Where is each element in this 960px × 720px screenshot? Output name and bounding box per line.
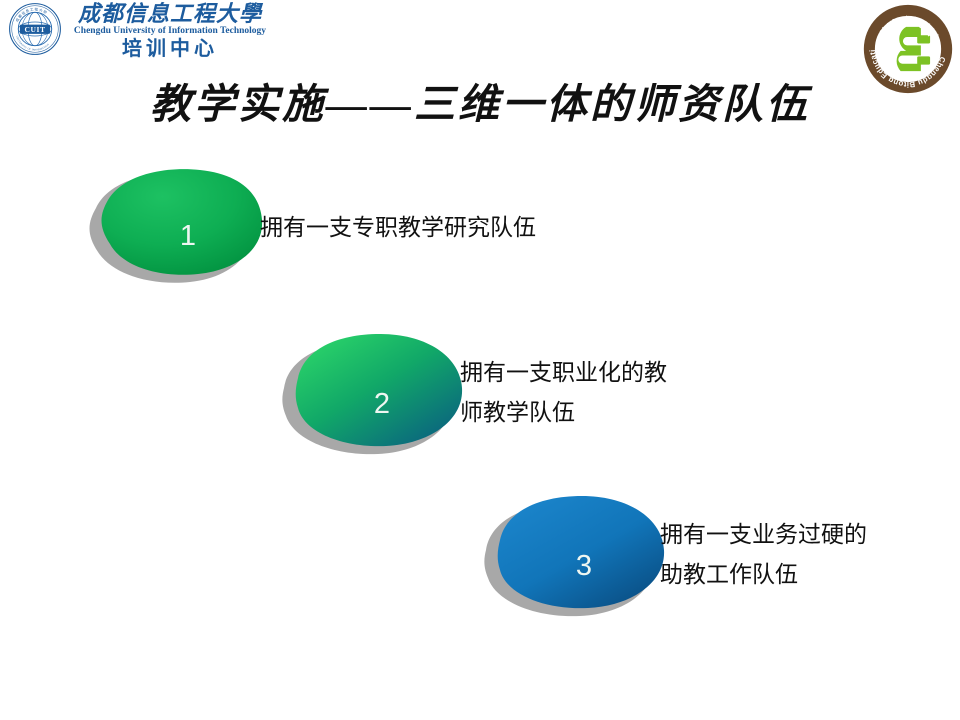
blob-shape-1[interactable] (78, 166, 278, 286)
svg-text:CUIT: CUIT (24, 25, 45, 34)
item-text: 拥有一支专职教学研究队伍 (260, 207, 536, 247)
item-text: 拥有一支职业化的教 师教学队伍 (460, 352, 667, 432)
slide-canvas: CUIT 成都信息工程大學 UNIVERSITY OF INFORMATION … (0, 0, 960, 720)
university-subtitle-cn: 培训中心 (64, 38, 276, 60)
item-text: 拥有一支业务过硬的 助教工作队伍 (660, 514, 867, 594)
blob-fill-1 (102, 169, 263, 275)
blob-fill-3 (498, 496, 664, 608)
item-text-line: 拥有一支职业化的教 (460, 352, 667, 392)
university-name-block: 成都信息工程大學 Chengdu University of Informati… (64, 2, 276, 60)
blob-fill-2 (296, 334, 462, 446)
item-text-line: 拥有一支业务过硬的 (660, 514, 867, 554)
item-text-line: 拥有一支专职教学研究队伍 (260, 207, 536, 247)
page-title: 教学实施——三维一体的师资队伍 (0, 70, 960, 130)
list-item[interactable]: 2 拥有一支职业化的教 师教学队伍 (272, 330, 702, 460)
item-text-line: 助教工作队伍 (660, 554, 867, 594)
list-item[interactable]: 1 拥有一支专职教学研究队伍 (78, 166, 558, 286)
university-name-en: Chengdu University of Information Techno… (64, 25, 276, 38)
cuit-seal-icon: CUIT 成都信息工程大學 UNIVERSITY OF INFORMATION (8, 2, 62, 56)
list-item[interactable]: 3 拥有一支业务过硬的 助教工作队伍 (474, 492, 904, 622)
blob-shape-2[interactable] (272, 330, 472, 460)
item-text-line: 师教学队伍 (460, 392, 667, 432)
blob-shape-3[interactable] (474, 492, 674, 622)
university-logo: CUIT 成都信息工程大學 UNIVERSITY OF INFORMATION … (8, 2, 278, 64)
university-name-cn: 成都信息工程大學 (64, 2, 276, 25)
